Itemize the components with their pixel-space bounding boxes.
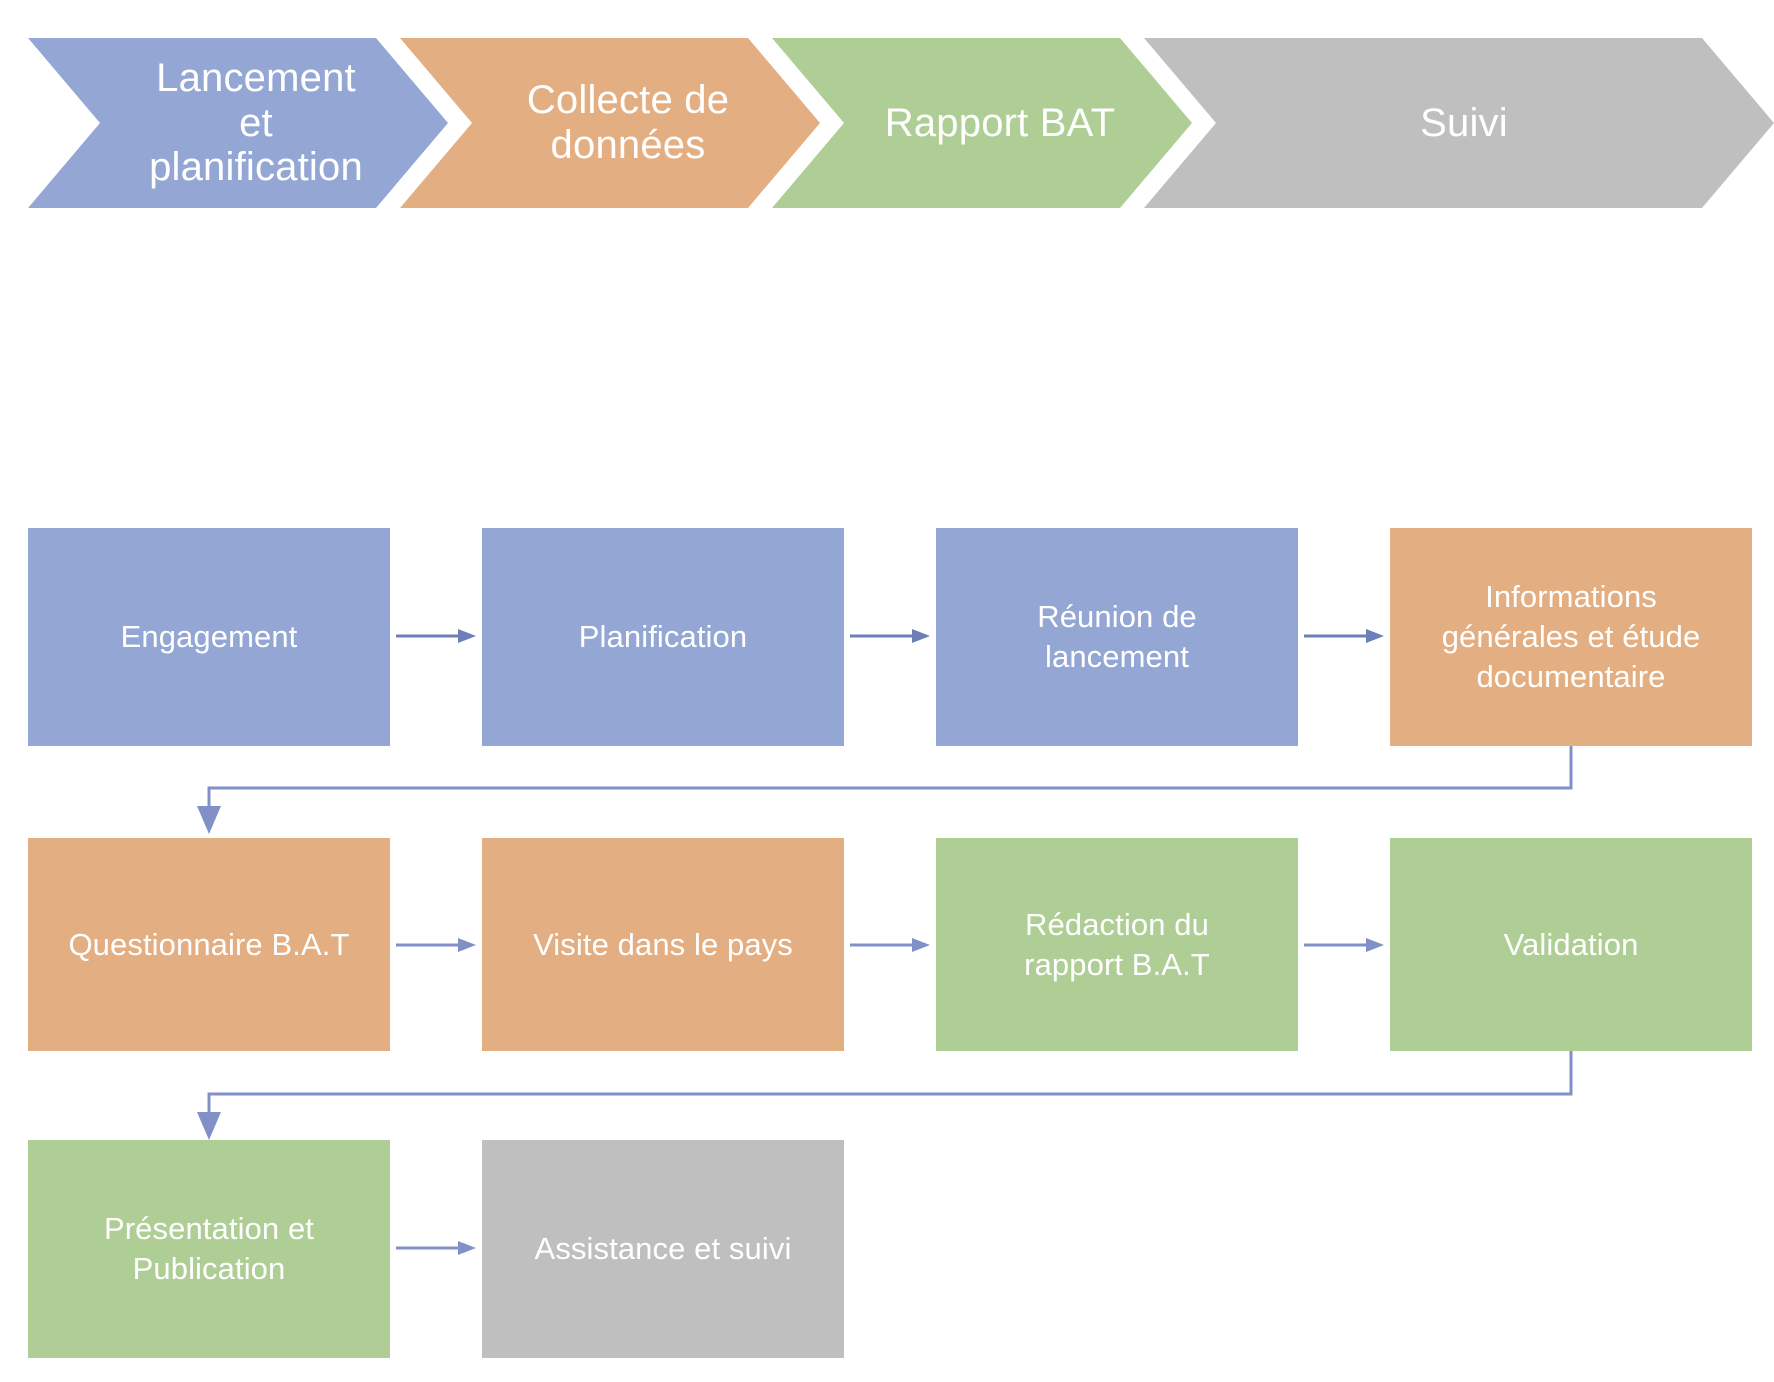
- step-label: Informations générales et étude document…: [1432, 577, 1711, 696]
- connector-presentation-et-publication-to-assistance-et-suivi: [396, 1239, 476, 1257]
- step-reunion-de-lancement[interactable]: Réunion de lancement: [936, 528, 1298, 746]
- phase-lancement-et-planification[interactable]: Lancement et planification: [28, 38, 448, 208]
- connector-engagement-to-planification: [396, 627, 476, 645]
- phase-label: Lancement et planification: [141, 56, 371, 190]
- step-label: Visite dans le pays: [523, 925, 803, 965]
- connector-visite-dans-le-pays-to-redaction-du-rapport-bat: [850, 936, 930, 954]
- connector-informations-generales-to-questionnaire-bat: [180, 746, 1600, 838]
- step-label: Questionnaire B.A.T: [58, 925, 359, 965]
- connector-redaction-du-rapport-bat-to-validation: [1304, 936, 1384, 954]
- step-label: Validation: [1494, 925, 1649, 965]
- flowchart-diagram: Lancement et planification Collecte de d…: [0, 0, 1774, 1382]
- step-redaction-du-rapport-bat[interactable]: Rédaction du rapport B.A.T: [936, 838, 1298, 1051]
- phase-label: Rapport BAT: [877, 101, 1123, 146]
- step-assistance-et-suivi[interactable]: Assistance et suivi: [482, 1140, 844, 1358]
- step-validation[interactable]: Validation: [1390, 838, 1752, 1051]
- phase-label: Suivi: [1412, 101, 1516, 146]
- step-planification[interactable]: Planification: [482, 528, 844, 746]
- step-label: Assistance et suivi: [525, 1229, 802, 1269]
- connector-planification-to-reunion-de-lancement: [850, 627, 930, 645]
- step-label: Présentation et Publication: [94, 1209, 324, 1288]
- step-label: Rédaction du rapport B.A.T: [1014, 905, 1220, 984]
- connector-reunion-de-lancement-to-informations-generales: [1304, 627, 1384, 645]
- step-label: Réunion de lancement: [1027, 597, 1207, 676]
- step-presentation-et-publication[interactable]: Présentation et Publication: [28, 1140, 390, 1358]
- phase-suivi[interactable]: Suivi: [1144, 38, 1774, 208]
- step-questionnaire-bat[interactable]: Questionnaire B.A.T: [28, 838, 390, 1051]
- phase-label: Collecte de données: [519, 78, 737, 168]
- connector-validation-to-presentation-et-publication: [180, 1051, 1600, 1143]
- step-label: Planification: [569, 617, 757, 657]
- step-label: Engagement: [111, 617, 308, 657]
- phase-collecte-de-donnees[interactable]: Collecte de données: [400, 38, 820, 208]
- step-engagement[interactable]: Engagement: [28, 528, 390, 746]
- phase-rapport-bat[interactable]: Rapport BAT: [772, 38, 1192, 208]
- connector-questionnaire-bat-to-visite-dans-le-pays: [396, 936, 476, 954]
- step-informations-generales-et-etude-documentaire[interactable]: Informations générales et étude document…: [1390, 528, 1752, 746]
- step-visite-dans-le-pays[interactable]: Visite dans le pays: [482, 838, 844, 1051]
